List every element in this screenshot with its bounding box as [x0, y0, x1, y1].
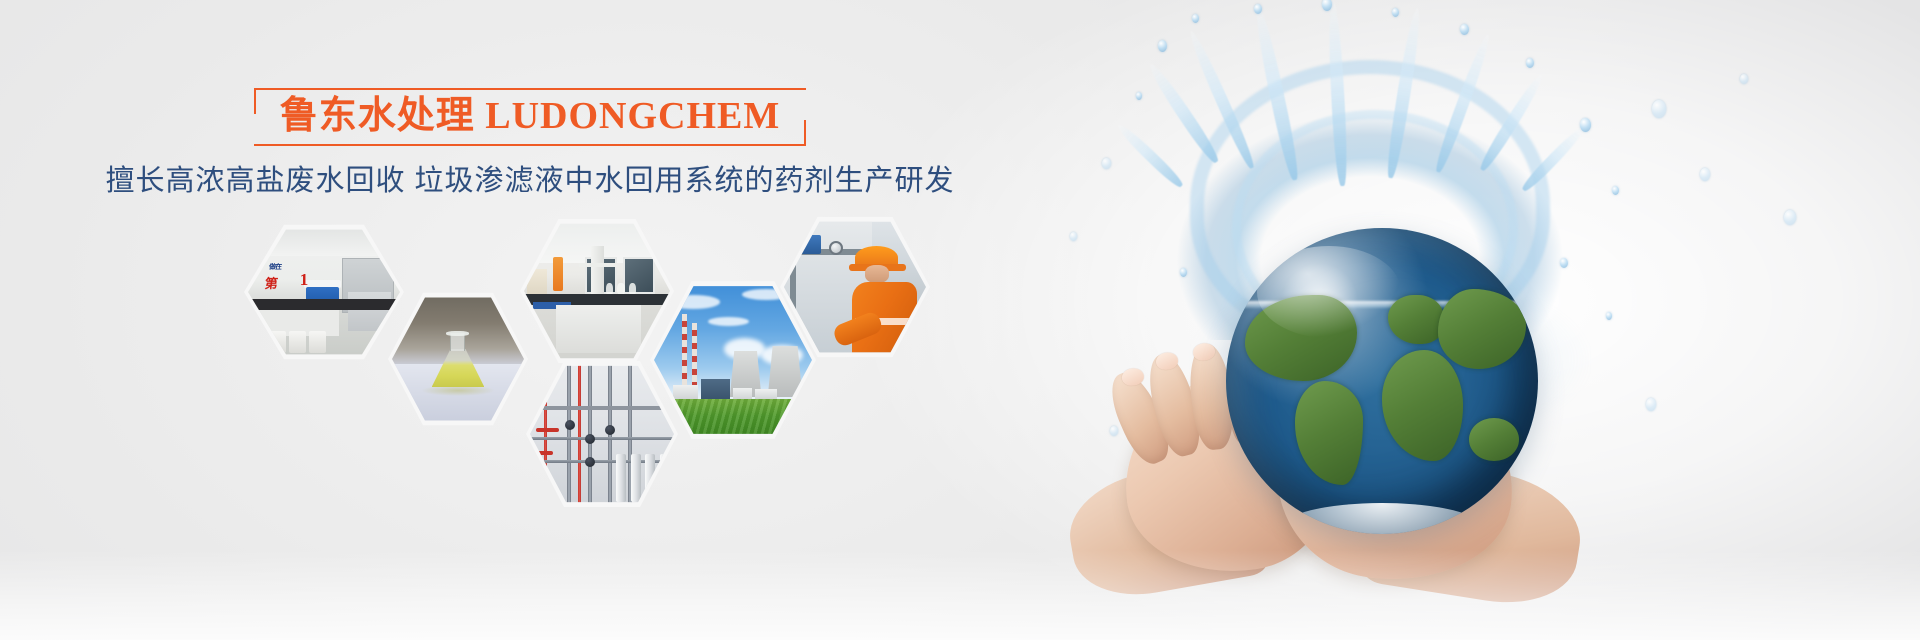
frame-top-rule [276, 88, 807, 90]
bracket-top-left-icon [254, 88, 280, 114]
water-droplet [1136, 92, 1142, 100]
water-droplet [1192, 14, 1199, 23]
continent-australia [1469, 418, 1519, 461]
globe-highlight [1257, 246, 1401, 338]
hex-photo-image [784, 219, 926, 355]
water-droplet [1784, 210, 1796, 225]
hexagon-photo-collage: 做在 第 1 [230, 216, 950, 516]
continent-africa [1382, 350, 1463, 460]
headline-frame: 鲁东水处理 LUDONGCHEM [254, 88, 807, 146]
banner-text-block: 鲁东水处理 LUDONGCHEM 擅长高浓高盐废水回收 垃圾渗滤液中水回用系统的… [0, 88, 1060, 200]
hex-photo-image [524, 221, 670, 361]
water-droplet [1612, 186, 1619, 195]
water-droplet [1646, 398, 1656, 411]
frame-bottom-rule [254, 144, 785, 146]
water-droplet [1700, 168, 1710, 181]
water-droplet [1070, 232, 1077, 241]
hex-photo-lab-glassware[interactable] [520, 216, 674, 366]
water-droplet [1740, 74, 1748, 84]
water-droplet [1110, 426, 1118, 436]
bracket-bottom-right-icon [780, 120, 806, 146]
continent-south-america [1295, 381, 1364, 485]
continent-asia [1438, 289, 1525, 369]
hex-photo-image: 做在 第 1 [248, 227, 400, 357]
water-droplet [1180, 268, 1187, 277]
water-droplet [1254, 4, 1262, 14]
water-droplet [1652, 100, 1666, 118]
hex-photo-image [654, 283, 812, 437]
water-globe-artwork [1040, 0, 1920, 640]
water-droplet [1460, 24, 1469, 35]
hero-banner: 鲁东水处理 LUDONGCHEM 擅长高浓高盐废水回收 垃圾渗滤液中水回用系统的… [0, 0, 1920, 640]
wall-slogan: 做在 第 1 [260, 262, 324, 293]
hex-photo-ro-piping[interactable] [526, 358, 678, 510]
earth-globe [1226, 228, 1538, 534]
hex-photo-flask-sample[interactable] [388, 290, 528, 428]
water-droplet [1392, 8, 1399, 17]
page-title: 鲁东水处理 LUDONGCHEM [280, 94, 781, 138]
water-droplet [1158, 40, 1167, 52]
banner-subtitle: 擅长高浓高盐废水回收 垃圾渗滤液中水回用系统的药剂生产研发 [0, 162, 1060, 200]
water-droplet [1580, 118, 1591, 132]
water-droplet [1560, 258, 1568, 268]
water-droplet [1526, 58, 1534, 68]
water-droplet [1102, 158, 1111, 169]
water-droplet [1606, 312, 1612, 320]
hex-photo-lab-workshop[interactable]: 做在 第 1 [244, 222, 404, 362]
hex-photo-image [530, 363, 674, 505]
antarctic-ice-cap [1282, 503, 1482, 534]
